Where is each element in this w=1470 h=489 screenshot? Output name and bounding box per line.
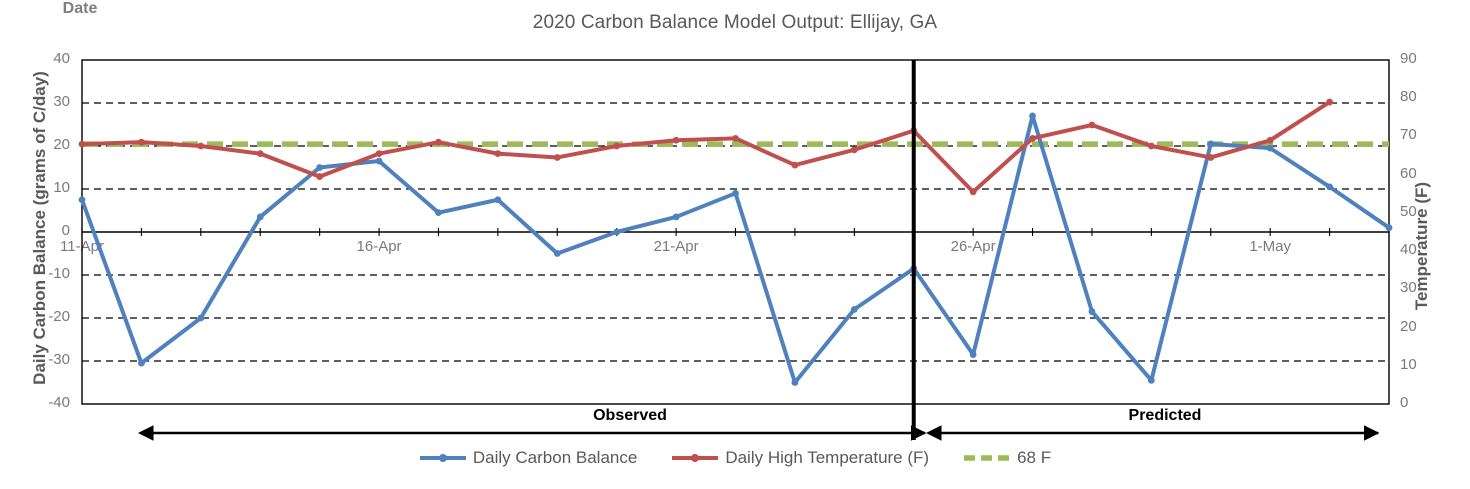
data-point bbox=[138, 139, 145, 146]
legend-label: 68 F bbox=[1017, 448, 1051, 468]
data-point bbox=[435, 209, 442, 216]
data-point bbox=[673, 137, 680, 144]
data-point bbox=[732, 135, 739, 142]
data-point bbox=[494, 150, 501, 157]
data-point bbox=[138, 360, 145, 367]
legend-marker bbox=[439, 454, 447, 462]
data-point bbox=[792, 379, 799, 386]
data-point bbox=[613, 143, 620, 150]
data-point bbox=[851, 146, 858, 153]
data-point bbox=[1029, 135, 1036, 142]
observed-region-label: Observed bbox=[525, 407, 735, 425]
data-point bbox=[435, 139, 442, 146]
data-point bbox=[376, 158, 383, 165]
data-point bbox=[79, 141, 86, 148]
data-point bbox=[316, 164, 323, 171]
data-point bbox=[197, 315, 204, 322]
predicted-region-label: Predicted bbox=[1060, 407, 1270, 425]
data-point bbox=[1148, 143, 1155, 150]
series-daily-high-temperature-f bbox=[79, 99, 1333, 196]
legend-item[interactable]: Daily High Temperature (F) bbox=[671, 448, 929, 468]
data-point bbox=[970, 188, 977, 195]
legend-item[interactable]: Daily Carbon Balance bbox=[419, 448, 637, 468]
data-point bbox=[257, 214, 264, 221]
data-point bbox=[970, 351, 977, 358]
data-point bbox=[673, 214, 680, 221]
data-point bbox=[1386, 224, 1393, 231]
data-point bbox=[1089, 308, 1096, 315]
data-point bbox=[792, 162, 799, 169]
data-point bbox=[554, 250, 561, 257]
legend-swatch-icon bbox=[419, 450, 467, 466]
data-point bbox=[1089, 122, 1096, 129]
data-point bbox=[1029, 113, 1036, 120]
legend-label: Daily High Temperature (F) bbox=[725, 448, 929, 468]
data-point bbox=[79, 196, 86, 203]
legend-label: Daily Carbon Balance bbox=[473, 448, 637, 468]
data-point bbox=[851, 306, 858, 313]
data-point bbox=[1207, 154, 1214, 161]
data-point bbox=[554, 154, 561, 161]
data-point bbox=[1267, 145, 1274, 152]
chart-container: 2020 Carbon Balance Model Output: Ellija… bbox=[0, 0, 1470, 489]
data-point bbox=[732, 190, 739, 197]
data-point bbox=[1148, 377, 1155, 384]
chart-legend: Daily Carbon BalanceDaily High Temperatu… bbox=[0, 448, 1470, 468]
data-point bbox=[257, 150, 264, 157]
data-point bbox=[197, 143, 204, 150]
data-point bbox=[613, 229, 620, 236]
data-point bbox=[1326, 183, 1333, 190]
series-line bbox=[82, 102, 1330, 192]
legend-marker bbox=[691, 454, 699, 462]
data-point bbox=[1207, 140, 1214, 147]
data-point bbox=[494, 196, 501, 203]
data-point bbox=[1267, 137, 1274, 144]
data-point bbox=[376, 150, 383, 157]
data-point bbox=[1326, 99, 1333, 106]
legend-swatch-icon bbox=[671, 450, 719, 466]
legend-item[interactable]: 68 F bbox=[963, 448, 1051, 468]
legend-swatch-icon bbox=[963, 450, 1011, 466]
data-point bbox=[316, 173, 323, 180]
